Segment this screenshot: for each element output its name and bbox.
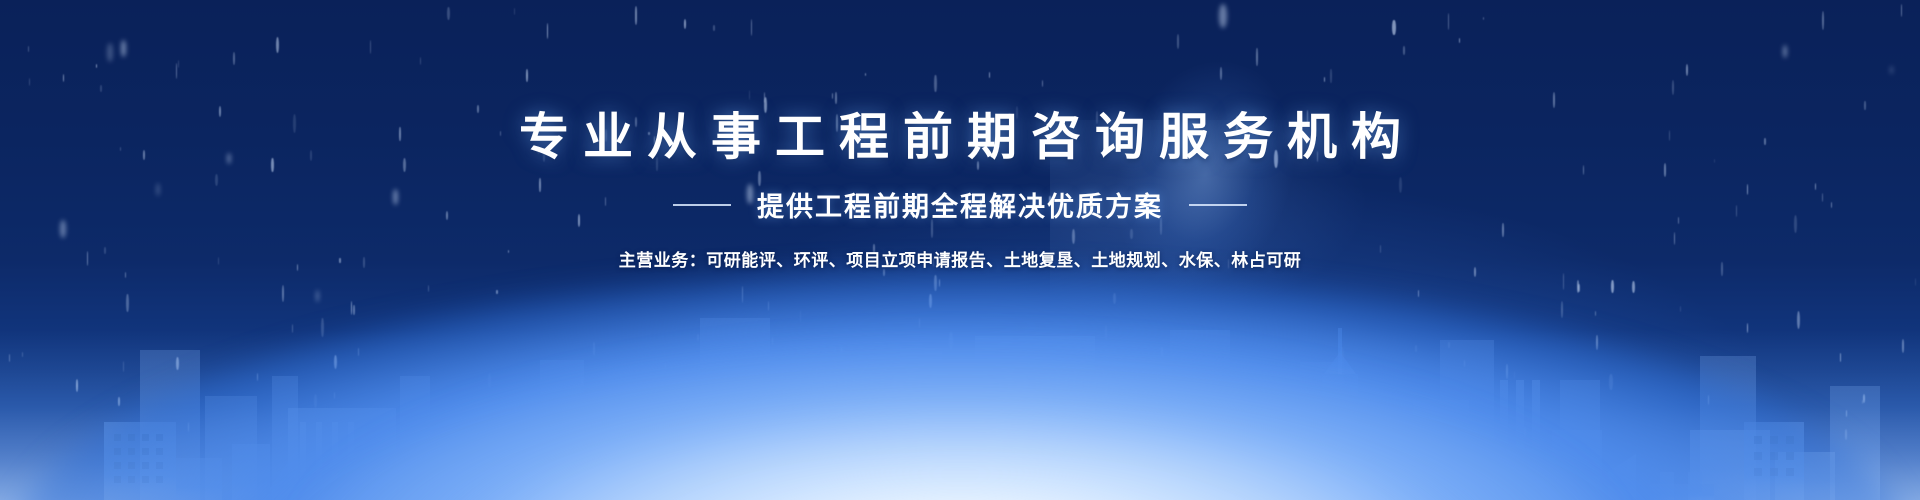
star-particle	[934, 275, 936, 291]
star-particle	[1524, 427, 1526, 437]
star-glow-particle	[316, 290, 320, 302]
star-particle	[1862, 400, 1863, 404]
star-particle	[334, 392, 335, 400]
star-particle	[772, 337, 773, 345]
star-particle	[1632, 281, 1635, 293]
star-particle	[334, 355, 337, 369]
star-particle	[1209, 381, 1212, 395]
star-particle	[949, 332, 953, 350]
star-particle	[1863, 394, 1865, 403]
star-particle	[1578, 284, 1579, 292]
star-particle	[973, 392, 974, 396]
star-particle	[1081, 357, 1085, 374]
star-particle	[1506, 364, 1508, 379]
star-particle	[123, 361, 125, 372]
star-particle	[428, 285, 429, 292]
star-particle	[1596, 335, 1598, 350]
star-particle	[593, 342, 595, 356]
star-particle	[125, 272, 126, 279]
star-particle	[9, 354, 10, 362]
star-particle	[126, 294, 128, 312]
star-particle	[939, 279, 940, 287]
star-particle	[1680, 306, 1681, 313]
banner-services-line: 主营业务：可研能评、环评、项目立项申请报告、土地复垦、土地规划、水保、林占可研	[0, 246, 1920, 271]
star-particle	[1595, 311, 1596, 316]
star-particle	[188, 422, 189, 432]
star-particle	[583, 409, 584, 416]
star-particle	[798, 375, 799, 378]
star-particle	[1415, 345, 1417, 353]
star-particle	[1561, 301, 1563, 318]
star-particle	[1464, 360, 1465, 367]
star-particle	[321, 318, 324, 337]
star-particle	[22, 352, 23, 356]
star-particle	[1340, 347, 1344, 364]
star-particle	[1840, 353, 1842, 362]
star-particle	[742, 286, 744, 303]
glowing-horizon-core	[310, 350, 1610, 500]
banner-subtitle: 提供工程前期全程解决优质方案	[757, 185, 1163, 224]
glowing-horizon-arc	[10, 270, 1910, 500]
star-particle	[1609, 374, 1613, 390]
star-particle	[496, 290, 497, 294]
star-particle	[1161, 347, 1163, 357]
star-particle	[1845, 429, 1847, 440]
rule-left-icon	[673, 204, 731, 206]
star-particle	[947, 397, 949, 409]
star-particle	[351, 301, 352, 315]
hero-banner: 专业从事工程前期咨询服务机构 提供工程前期全程解决优质方案 主营业务：可研能评、…	[0, 0, 1920, 500]
star-particle	[282, 285, 284, 302]
star-particle	[118, 397, 120, 407]
star-particle	[1418, 290, 1420, 298]
star-particle	[665, 363, 666, 368]
star-particle	[581, 379, 583, 386]
star-particle	[1846, 410, 1847, 417]
banner-title: 专业从事工程前期咨询服务机构	[0, 110, 1920, 165]
star-particle	[358, 348, 360, 356]
star-particle	[1611, 280, 1614, 293]
star-particle	[1514, 371, 1515, 379]
banner-subtitle-row: 提供工程前期全程解决优质方案	[0, 185, 1920, 224]
star-particle	[1105, 325, 1107, 340]
star-particle	[314, 394, 317, 408]
star-particle	[292, 324, 293, 333]
star-particle	[929, 294, 932, 308]
star-particle	[1708, 395, 1709, 405]
ground-haze	[0, 330, 1920, 500]
star-particle	[176, 357, 179, 370]
star-particle	[1902, 339, 1905, 353]
star-particle	[755, 420, 756, 424]
rule-right-icon	[1189, 204, 1247, 206]
star-particle	[768, 301, 769, 311]
star-particle	[76, 379, 78, 392]
star-particle	[1448, 342, 1449, 348]
banner-content: 专业从事工程前期咨询服务机构 提供工程前期全程解决优质方案 主营业务：可研能评、…	[0, 0, 1920, 271]
star-particle	[1563, 273, 1565, 290]
star-particle	[697, 334, 698, 341]
star-particle	[488, 373, 491, 388]
star-particle	[1915, 278, 1916, 286]
star-particle	[1577, 280, 1579, 294]
star-particle	[1797, 311, 1800, 329]
star-particle	[257, 373, 258, 380]
star-particle	[841, 347, 842, 353]
star-particle	[1747, 323, 1748, 333]
star-particle	[353, 305, 355, 316]
star-particle	[1113, 293, 1116, 304]
star-particle	[835, 347, 836, 353]
star-particle	[800, 310, 801, 323]
star-particle	[919, 318, 920, 328]
